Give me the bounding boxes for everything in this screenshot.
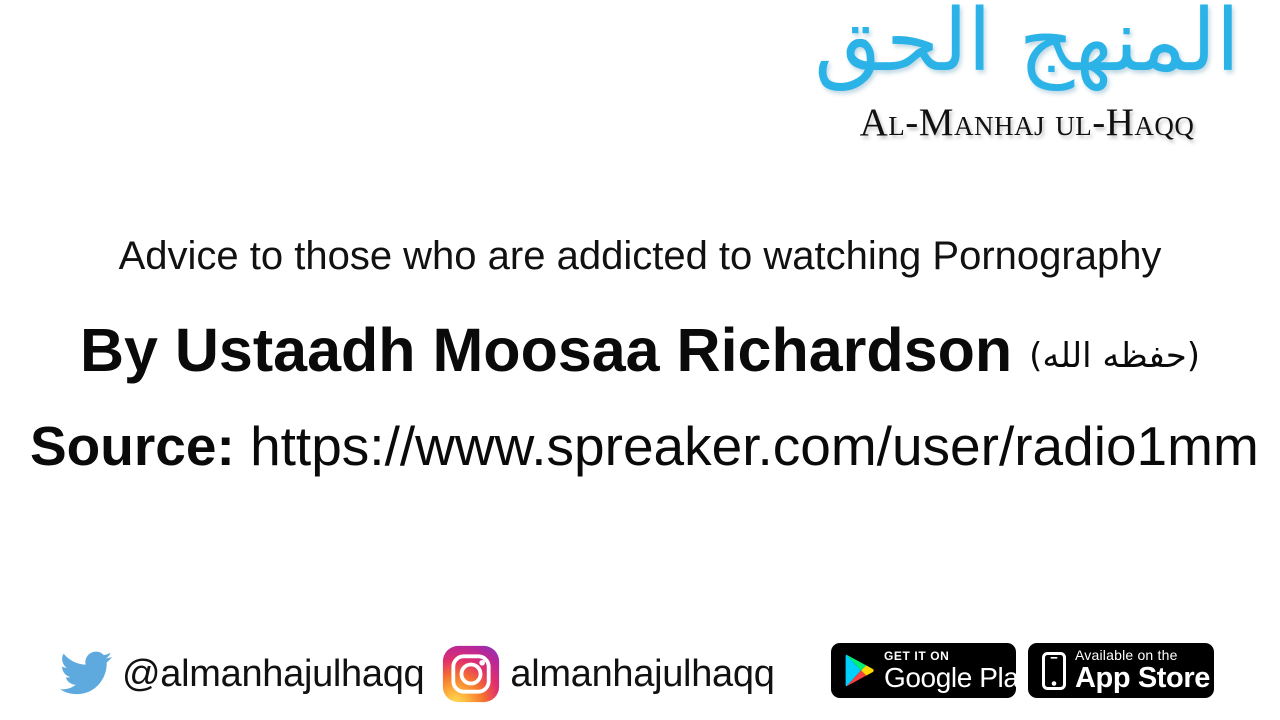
slide-canvas: المنهج الحق Al-Manhaj ul-Haqq Advice to … (0, 0, 1280, 720)
lecture-author-line: By Ustaadh Moosaa Richardson (حفظه الله) (0, 320, 1280, 381)
logo-latin-wordmark: Al-Manhaj ul-Haqq (782, 100, 1272, 145)
author-dua-arabic: (حفظه الله) (1029, 336, 1200, 376)
app-store-bottom-label: App Store (1075, 664, 1210, 693)
instagram-icon (442, 645, 500, 703)
brand-logo: المنهج الحق Al-Manhaj ul-Haqq (782, 4, 1272, 152)
twitter-handle-group[interactable]: @almanhajulhaqq (60, 640, 424, 708)
app-store-badge[interactable]: Available on the App Store (1028, 643, 1214, 698)
twitter-handle-text: @almanhajulhaqq (122, 653, 424, 696)
author-name: By Ustaadh Moosaa Richardson (80, 316, 1029, 384)
app-store-badge-text: Available on the App Store (1075, 648, 1210, 693)
apple-iphone-icon (1042, 652, 1066, 690)
google-play-badge[interactable]: GET IT ON Google Play (831, 643, 1016, 698)
lecture-subtitle: Advice to those who are addicted to watc… (0, 236, 1280, 276)
source-line: Source: https://www.spreaker.com/user/ra… (0, 419, 1280, 474)
instagram-handle-group[interactable]: almanhajulhaqq (442, 640, 774, 708)
google-play-bottom-label: Google Play (884, 664, 1032, 692)
logo-arabic-script: المنهج الحق (792, 0, 1262, 84)
google-play-icon (845, 654, 875, 687)
app-store-top-label: Available on the (1075, 648, 1210, 662)
title-block: Advice to those who are addicted to watc… (0, 236, 1280, 474)
google-play-badge-text: GET IT ON Google Play (884, 650, 1032, 692)
instagram-handle-text: almanhajulhaqq (510, 653, 774, 696)
google-play-top-label: GET IT ON (884, 650, 1032, 662)
twitter-bird-icon (60, 651, 112, 697)
logo-latin-text: Al-Manhaj ul-Haqq (860, 101, 1195, 144)
source-label: Source: (30, 415, 235, 477)
source-url[interactable]: https://www.spreaker.com/user/radio1mm (250, 415, 1259, 477)
app-store-badges: GET IT ON Google Play Available on the A… (831, 643, 1214, 698)
